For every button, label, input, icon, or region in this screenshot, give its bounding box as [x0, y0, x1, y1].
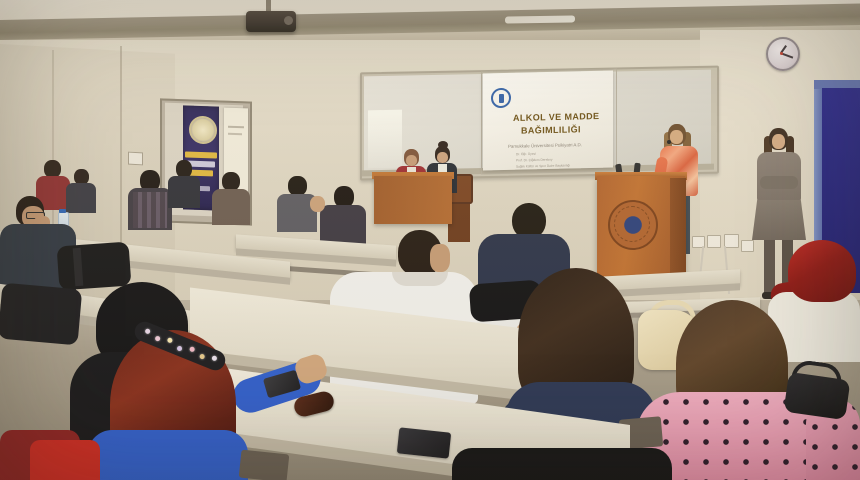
slide-title-line1: ALKOL VE MADDE — [513, 111, 599, 123]
audience-head — [288, 176, 307, 196]
lectern-side-panel — [670, 178, 686, 284]
wall-power-socket[interactable] — [724, 234, 739, 248]
black-purse — [784, 372, 851, 420]
presenter-face — [670, 130, 683, 144]
lecture-hall-photo: ALKOL VE MADDE BAĞIMLILIĞI Pamukkale Üni… — [0, 0, 860, 480]
backpack — [57, 242, 132, 291]
bottle-cap — [59, 209, 66, 213]
headband-jewel — [199, 353, 206, 360]
foreground-dark-figure — [452, 448, 672, 480]
emblem-ring — [614, 206, 650, 242]
red-hair-woman-torso — [88, 430, 248, 480]
light-switch[interactable] — [128, 152, 143, 166]
man-in-white-tshirt-face — [430, 244, 450, 272]
headset-microphone-icon — [667, 140, 671, 144]
logo-mark — [499, 93, 504, 102]
plaid-shirt-pattern — [133, 192, 167, 228]
woman-in-red-headscarf — [788, 240, 856, 302]
ceiling-light — [505, 15, 575, 23]
slide-bullet: Dr. Öğr. Üyesi — [516, 152, 536, 156]
headband-jewel — [176, 345, 183, 352]
smartphone-on-desk[interactable] — [397, 427, 451, 458]
panelist-right-face — [437, 152, 448, 163]
backpack — [0, 283, 82, 346]
chair-back[interactable] — [239, 450, 290, 480]
slide-title-line2: BAĞIMLILIĞI — [521, 124, 581, 135]
banner-text-line — [185, 151, 217, 158]
headband-jewel — [189, 346, 196, 353]
audience-head — [310, 196, 325, 212]
projector-lens-icon — [284, 16, 293, 25]
panel-table — [374, 176, 452, 224]
wall-power-socket[interactable] — [707, 235, 721, 248]
audience-member — [66, 183, 96, 213]
foreground-red-figure — [30, 440, 100, 480]
standing-woman-skirt — [752, 198, 806, 240]
wall-power-socket[interactable] — [741, 240, 754, 252]
tshirt-collar — [392, 272, 448, 286]
audience-member — [168, 176, 200, 208]
headband-jewel — [167, 337, 174, 344]
audience-member — [212, 189, 250, 225]
standing-woman-face — [772, 134, 785, 149]
headband-jewel — [144, 328, 151, 335]
slide-bullet: Prof. Dr. Çiğdem Dereboy — [516, 158, 553, 163]
whiteboard-glare — [368, 110, 402, 169]
headband-jewel — [154, 335, 161, 342]
standing-woman-crossed-arms — [760, 176, 798, 189]
banner-seal-icon — [189, 116, 217, 145]
notice-text-line — [228, 133, 242, 135]
headband-jewel — [211, 355, 218, 362]
panelist-left-face — [406, 155, 417, 166]
clock-center — [780, 52, 783, 55]
